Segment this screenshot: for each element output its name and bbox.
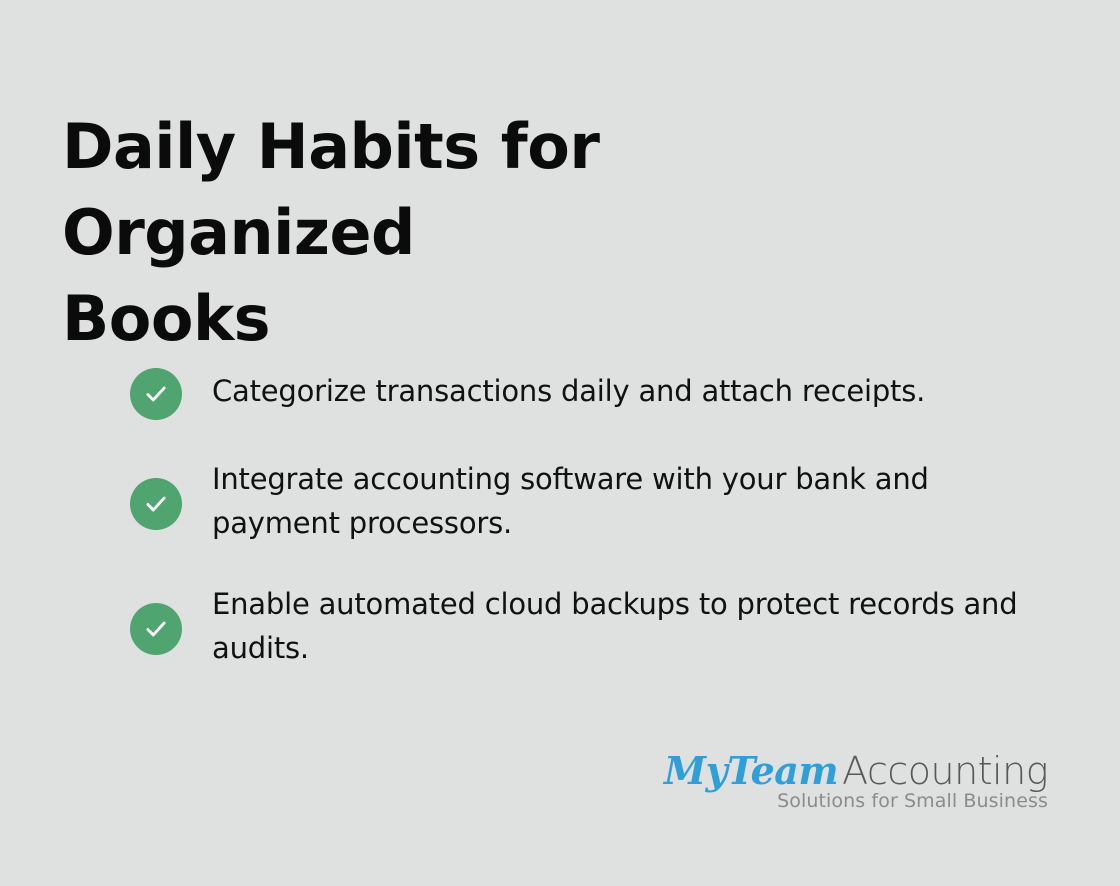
slide-canvas: Daily Habits for Organized Books Categor… — [0, 0, 1120, 886]
brand-logo-plain-text: Accounting — [842, 749, 1048, 793]
list-item-label: Integrate accounting software with your … — [212, 456, 1050, 545]
list-item: Integrate accounting software with your … — [130, 456, 1050, 545]
check-circle-icon — [130, 368, 182, 420]
check-circle-icon — [130, 478, 182, 530]
brand-logo-script-text: MyTeam — [664, 748, 838, 793]
list-item-label: Categorize transactions daily and attach… — [212, 368, 1050, 413]
list-item: Categorize transactions daily and attach… — [130, 368, 1050, 420]
list-item-label: Enable automated cloud backups to protec… — [212, 581, 1050, 670]
benefits-list: Categorize transactions daily and attach… — [130, 368, 1050, 670]
page-title: Daily Habits for Organized Books — [62, 104, 962, 362]
brand-logo: MyTeamAccounting Solutions for Small Bus… — [664, 752, 1048, 811]
brand-logo-tagline: Solutions for Small Business — [664, 792, 1048, 811]
brand-logo-wordmark: MyTeamAccounting — [664, 752, 1048, 790]
list-item: Enable automated cloud backups to protec… — [130, 581, 1050, 670]
check-circle-icon — [130, 603, 182, 655]
